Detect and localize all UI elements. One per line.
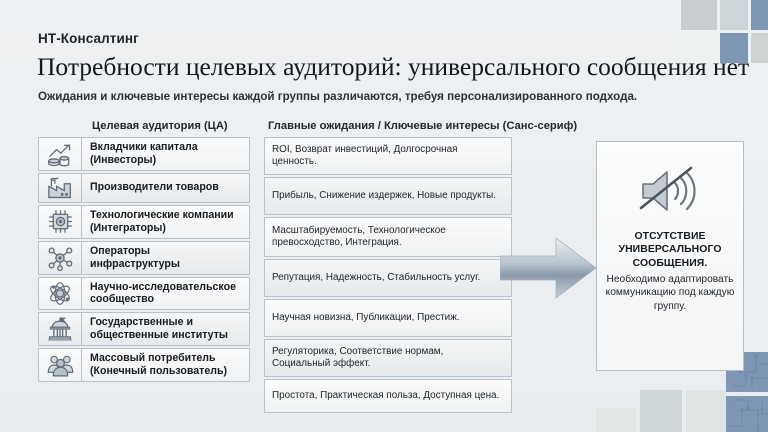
table-row: Операторы инфраструктуры [38,241,250,275]
decor-square-br1 [640,390,682,432]
decor-square-br5 [596,408,636,432]
conclusion-panel: ОТСУТСТВИЕ УНИВЕРСАЛЬНОГО СООБЩЕНИЯ. Нео… [596,141,744,371]
decor-square-tr2 [720,0,748,30]
audience-label: Технологические компании (Интеграторы) [82,206,249,238]
muted-speaker-icon [633,160,707,222]
column-header-audience: Целевая аудитория (ЦА) [92,120,228,132]
table-row: Массовый потребитель (Конечный пользоват… [38,348,250,382]
conclusion-body: Необходимо адаптировать коммуникацию под… [597,273,743,313]
audience-label: Производители товаров [82,174,249,202]
table-row: Государственные и общественные институты [38,312,250,346]
decor-square-tr5 [751,33,768,63]
decor-square-br2 [686,390,726,432]
expectation-cell: Регуляторика, Соответствие нормам, Социа… [264,339,512,377]
table-row: Вкладчики капитала (Инвесторы) [38,137,250,171]
factory-icon [39,174,82,202]
column-header-expectations: Главные ожидания / Ключевые интересы (Са… [268,120,577,132]
conclusion-headline: ОТСУТСТВИЕ УНИВЕРСАЛЬНОГО СООБЩЕНИЯ. [597,230,743,270]
expectation-cell: Репутация, Надежность, Стабильность услу… [264,259,512,297]
audience-label: Научно-исследовательское сообщество [82,278,249,310]
expectation-cell: Прибыль, Снижение издержек, Новые продук… [264,177,512,215]
microchip-icon [39,206,82,238]
atom-research-icon [39,278,82,310]
page-title: Потребности целевых аудиторий: универсал… [37,52,737,82]
audience-label: Вкладчики капитала (Инвесторы) [82,138,249,170]
people-group-icon [39,349,82,381]
expectation-cell: Простота, Практическая польза, Доступная… [264,379,512,413]
circuit-pattern-icon [726,396,768,432]
decor-square-tr3 [751,0,768,30]
audience-label: Государственные и общественные институты [82,313,249,345]
table-row: Технологические компании (Интеграторы) [38,205,250,239]
audience-label: Массовый потребитель (Конечный пользоват… [82,349,249,381]
page-subtitle: Ожидания и ключевые интересы каждой груп… [38,90,698,103]
investment-growth-coins-icon [39,138,82,170]
brand-label: НТ-Консалтинг [38,31,139,46]
table-row: Производители товаров [38,173,250,203]
expectations-table: ROI, Возврат инвестиций, Долгосрочная це… [264,137,512,415]
audience-label: Операторы инфраструктуры [82,242,249,274]
expectation-cell: Научная новизна, Публикации, Престиж. [264,299,512,337]
government-building-icon [39,313,82,345]
decor-circuit-block-bottom [726,396,768,432]
expectation-cell: ROI, Возврат инвестиций, Долгосрочная це… [264,137,512,175]
expectation-cell: Масштабируемость, Технологическое превос… [264,217,512,257]
audience-table: Вкладчики капитала (Инвесторы) Производи… [38,137,250,384]
network-nodes-icon [39,242,82,274]
decor-square-tr1 [681,0,717,30]
table-row: Научно-исследовательское сообщество [38,277,250,311]
slide-root: НТ-Консалтинг Потребности целевых аудито… [0,0,768,432]
flow-arrow-icon [500,232,598,304]
